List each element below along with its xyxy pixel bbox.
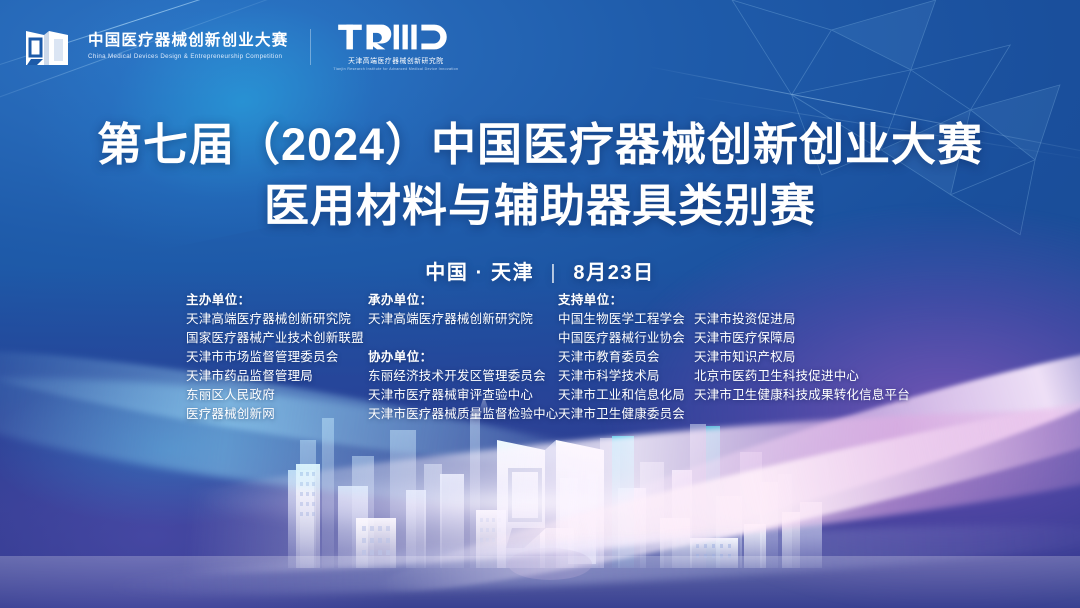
open-door-logo-icon — [24, 25, 70, 69]
ground-glow — [86, 460, 1015, 530]
poster-canvas: 中国医疗器械创新创业大赛 China Medical Devices Desig… — [0, 0, 1080, 608]
org-item: 天津市知识产权局 — [694, 348, 910, 367]
org-item: 天津市医疗器械质量监督检验中心 — [368, 405, 558, 424]
logo-divider — [310, 29, 311, 65]
title-block: 第七届（2024）中国医疗器械创新创业大赛 医用材料与辅助器具类别赛 中国 · … — [0, 118, 1080, 285]
main-title-line2: 医用材料与辅助器具类别赛 — [0, 179, 1080, 234]
org-heading: 支持单位： — [558, 291, 694, 310]
org-item: 天津高端医疗器械创新研究院 — [368, 310, 558, 329]
primary-logo-text: 中国医疗器械创新创业大赛 China Medical Devices Desig… — [88, 32, 288, 61]
org-item: 天津高端医疗器械创新研究院 — [186, 310, 368, 329]
org-heading: 协办单位： — [368, 348, 558, 367]
org-item: 东丽经济技术开发区管理委员会 — [368, 367, 558, 386]
org-item: 天津市投资促进局 — [694, 310, 910, 329]
org-item: 天津市工业和信息化局 — [558, 386, 694, 405]
subtitle-divider: | — [550, 262, 557, 285]
secondary-logo: 天津高端医疗器械创新研究院 Tianjin Research Institute… — [333, 22, 458, 71]
org-item: 天津市医疗器械审评查验中心 — [368, 386, 558, 405]
main-title-line1: 第七届（2024）中国医疗器械创新创业大赛 — [0, 118, 1080, 173]
org-item: 中国医疗器械行业协会 — [558, 329, 694, 348]
org-heading: 主办单位： — [186, 291, 368, 310]
org-item: 天津市科学技术局 — [558, 367, 694, 386]
organizations-block: 主办单位： 天津高端医疗器械创新研究院 国家医疗器械产业技术创新联盟 天津市市场… — [186, 291, 930, 424]
org-item: 天津市药品监督管理局 — [186, 367, 368, 386]
event-location-date: 中国 · 天津 | 8月23日 — [0, 256, 1080, 285]
event-location: 中国 · 天津 — [425, 262, 534, 284]
org-column-1: 主办单位： 天津高端医疗器械创新研究院 国家医疗器械产业技术创新联盟 天津市市场… — [186, 291, 368, 424]
org-item: 北京市医药卫生科技促进中心 — [694, 367, 910, 386]
org-item: 天津市医疗保障局 — [694, 329, 910, 348]
org-column-3: 支持单位： 中国生物医学工程学会 中国医疗器械行业协会 天津市教育委员会 天津市… — [558, 291, 694, 424]
org-item: 中国生物医学工程学会 — [558, 310, 694, 329]
triid-wordmark-icon — [337, 22, 455, 52]
org-column-2: 承办单位： 天津高端医疗器械创新研究院 协办单位： 东丽经济技术开发区管理委员会… — [368, 291, 558, 424]
primary-logo-en: China Medical Devices Design & Entrepren… — [88, 53, 288, 61]
event-date: 8月23日 — [573, 262, 654, 284]
primary-logo-cn: 中国医疗器械创新创业大赛 — [88, 32, 288, 50]
org-item: 天津市卫生健康委员会 — [558, 405, 694, 424]
org-item: 国家医疗器械产业技术创新联盟 — [186, 329, 368, 348]
header-logo-bar: 中国医疗器械创新创业大赛 China Medical Devices Desig… — [24, 22, 458, 71]
org-item: 医疗器械创新网 — [186, 405, 368, 424]
org-item: 东丽区人民政府 — [186, 386, 368, 405]
org-item: 天津市市场监督管理委员会 — [186, 348, 368, 367]
org-heading: 承办单位： — [368, 291, 558, 310]
secondary-logo-cn: 天津高端医疗器械创新研究院 — [348, 55, 444, 65]
org-column-4: 天津市投资促进局 天津市医疗保障局 天津市知识产权局 北京市医药卫生科技促进中心… — [694, 291, 910, 405]
org-item: 天津市卫生健康科技成果转化信息平台 — [694, 386, 910, 405]
secondary-logo-en: Tianjin Research Institute for Advanced … — [333, 67, 458, 71]
org-spacer — [368, 329, 558, 348]
org-item: 天津市教育委员会 — [558, 348, 694, 367]
